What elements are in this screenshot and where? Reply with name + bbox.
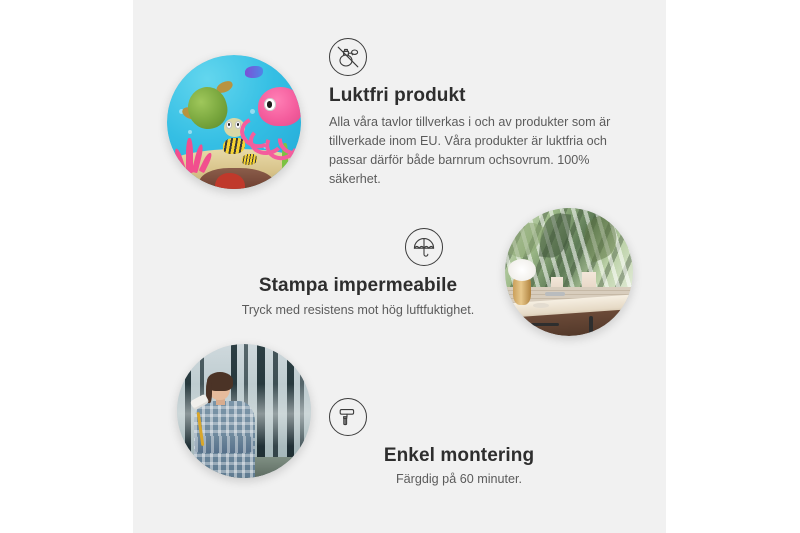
feature-description: Tryck med resistens mot hög luftfuktighe…	[193, 301, 523, 320]
leaf-motif	[578, 212, 624, 263]
feature-easy-mounting: Enkel montering Färgdig på 60 minuter.	[319, 398, 619, 489]
feature-title: Luktfri produkt	[329, 85, 629, 107]
painter-person	[188, 373, 266, 478]
photo-bathroom-tropical-wallpaper	[505, 208, 633, 336]
photo-ocean-kids-mural	[167, 55, 301, 189]
octopus-illustration	[245, 87, 301, 154]
turtle-illustration	[184, 84, 246, 138]
turtle-eye	[226, 121, 232, 128]
feature-waterproof-print: Stampa impermeabile Tryck med resistens …	[193, 228, 523, 320]
page-root: Luktfri produkt Alla våra tavlor tillver…	[0, 0, 800, 533]
bathroom-soap-dish	[533, 303, 548, 308]
product-feature-canvas: Luktfri produkt Alla våra tavlor tillver…	[133, 0, 666, 533]
fish-yellow-small	[242, 154, 257, 165]
feature-title: Stampa impermeabile	[193, 275, 523, 297]
fish-yellow	[223, 138, 244, 154]
photo-ocean-inner	[167, 55, 301, 189]
feature-title: Enkel montering	[299, 445, 619, 467]
feature-description: Färgdig på 60 minuter.	[299, 470, 619, 489]
no-fragrance-spray-bottle-icon	[329, 38, 367, 76]
coral	[175, 138, 215, 173]
photo-painter-forest-mural	[177, 344, 311, 478]
octopus-head	[258, 87, 301, 126]
cabinet-handle	[589, 316, 592, 336]
bathroom-faucet	[545, 292, 565, 295]
photo-painter-inner	[177, 344, 311, 478]
feature-odour-free: Luktfri produkt Alla våra tavlor tillver…	[329, 38, 629, 189]
leaf-motif	[539, 212, 572, 259]
fish-purple	[245, 66, 264, 78]
cabinet-handle	[531, 323, 559, 326]
paint-roller-icon	[329, 398, 367, 436]
octopus-eye	[264, 98, 276, 111]
feature-description: Alla våra tavlor tillverkas i och av pro…	[329, 113, 629, 189]
umbrella-icon	[405, 228, 443, 266]
photo-bathroom-inner	[505, 208, 633, 336]
